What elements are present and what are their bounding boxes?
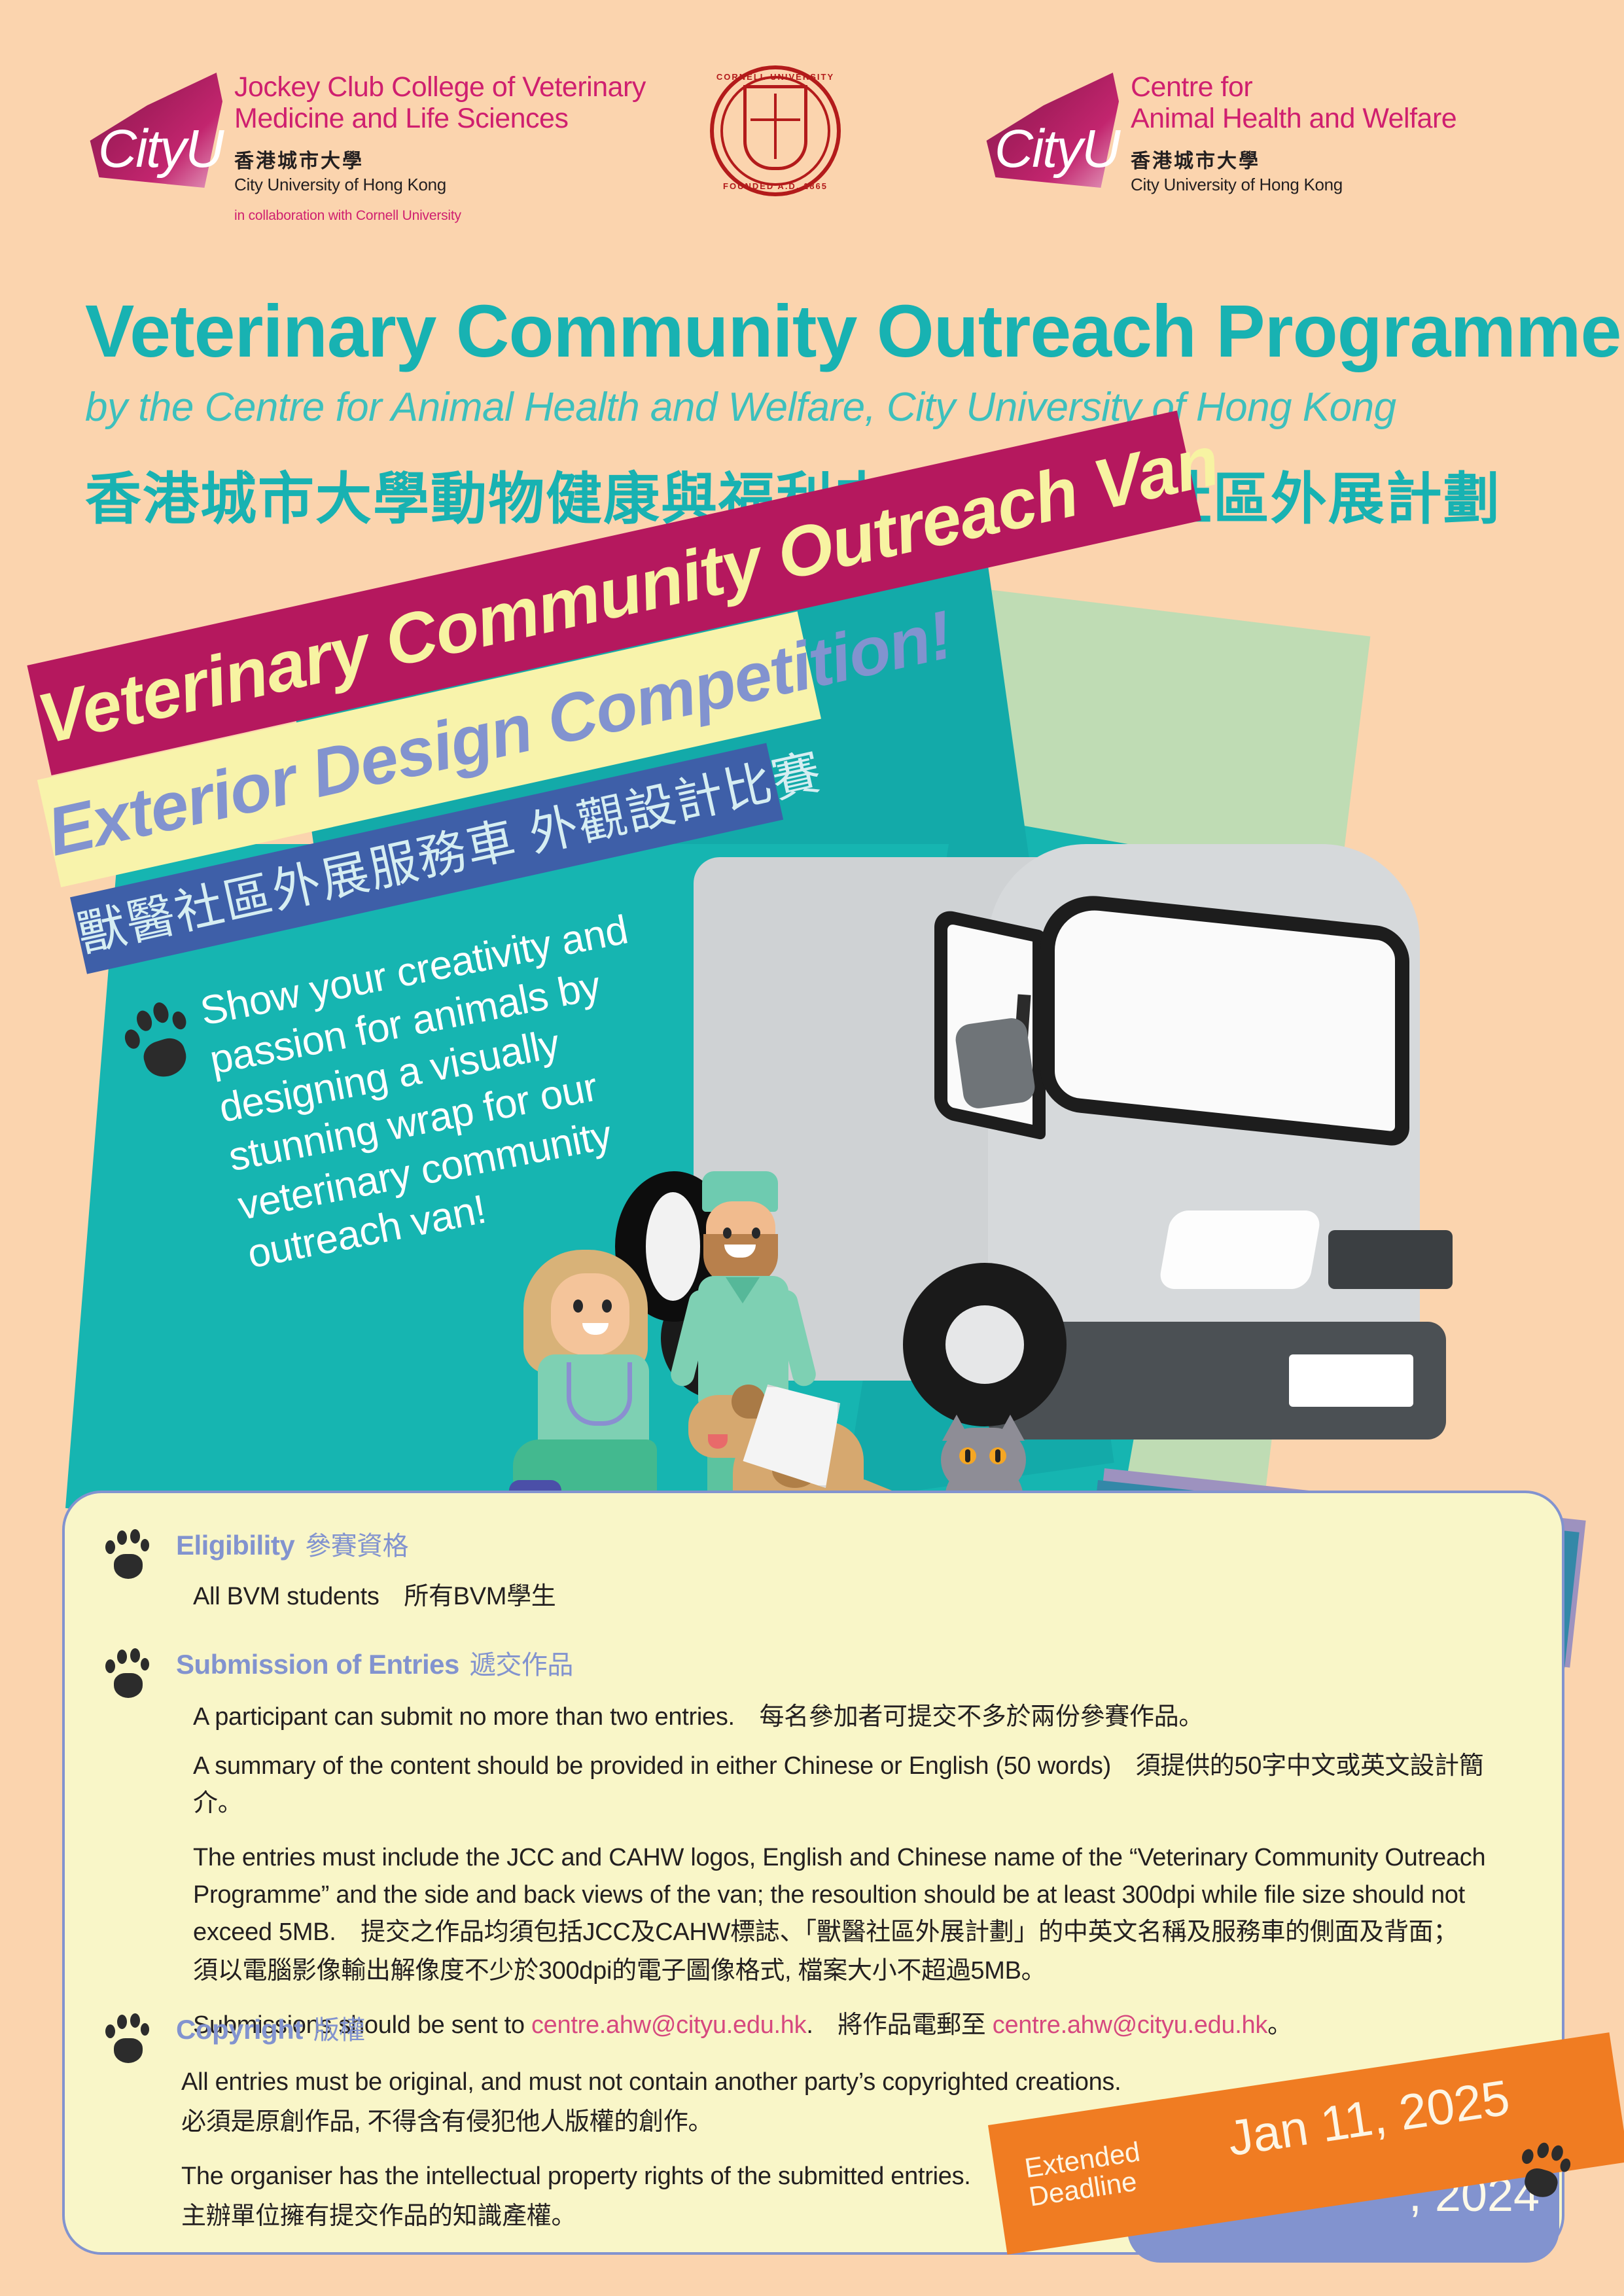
cornell-seal-icon: CORNELL UNIVERSITY FOUNDED A.D. 1865 xyxy=(710,65,841,196)
paw-toe xyxy=(134,1008,154,1033)
paw-toe xyxy=(117,1530,127,1545)
cityu-wordmark: CityU xyxy=(98,122,222,176)
paw-toe xyxy=(105,2024,115,2038)
paw-toe xyxy=(1559,2157,1572,2173)
paw-toe xyxy=(105,1540,115,1554)
van-side-mirror-icon xyxy=(953,1016,1036,1110)
section-heading-copyright: Copyright版權 xyxy=(176,2009,1517,2047)
cahw-name-line2: Animal Health and Welfare xyxy=(1131,103,1456,134)
stethoscope-icon xyxy=(567,1362,632,1426)
collaboration-note: in collaboration with Cornell University xyxy=(234,208,646,224)
eligibility-line: All BVM students 所有BVM學生 xyxy=(193,1578,556,1616)
paw-toe xyxy=(151,1000,171,1025)
eye-left xyxy=(573,1299,583,1313)
paw-toe xyxy=(122,1027,142,1050)
jcc-name-line2: Medicine and Life Sciences xyxy=(234,103,646,134)
section-submission: Submission of Entries遞交作品 A participant … xyxy=(104,1644,1517,2044)
cityu-wordmark: CityU xyxy=(995,122,1119,176)
jcc-name-line1: Jockey Club College of Veterinary xyxy=(234,71,646,103)
cityu-name-en: City University of Hong Kong xyxy=(234,175,646,195)
cityu-logo-left: CityU xyxy=(72,62,222,193)
extended-deadline-date: Jan 11, 2025 xyxy=(1224,2069,1513,2167)
paw-toe xyxy=(130,1648,140,1663)
paw-pad-main xyxy=(114,2038,143,2063)
van-front-wheel xyxy=(903,1263,1067,1426)
paw-toe xyxy=(117,1650,127,1664)
paw-toe xyxy=(130,2013,140,2028)
jcc-logo-block: CityU Jockey Club College of Veterinary … xyxy=(72,62,646,224)
wheel-hub xyxy=(945,1305,1024,1384)
section-heading-submission: Submission of Entries遞交作品 xyxy=(176,1644,1517,1682)
paw-print-icon xyxy=(104,1646,151,1699)
paw-toe xyxy=(130,1529,140,1544)
heading-zh: 版權 xyxy=(313,2016,365,2045)
cat-head xyxy=(941,1428,1026,1492)
poster-header: CityU Jockey Club College of Veterinary … xyxy=(0,0,1624,255)
paw-toe xyxy=(1520,2147,1535,2165)
heading-zh: 參賽資格 xyxy=(305,1532,408,1561)
submission-line-3: The entries must include the JCC and CAH… xyxy=(193,1839,1508,1951)
jcc-logo-text: Jockey Club College of Veterinary Medici… xyxy=(234,62,646,224)
paw-toe xyxy=(141,2023,149,2036)
cityu-name-en: City University of Hong Kong xyxy=(1131,175,1456,195)
paw-print-icon xyxy=(104,1527,151,1580)
cityu-logo-right: CityU xyxy=(968,62,1119,193)
section-eligibility: Eligibility參賽資格 All BVM students 所有BVM學生 xyxy=(104,1525,556,1616)
eye-left xyxy=(723,1227,732,1239)
paw-toe xyxy=(1536,2142,1551,2160)
submission-line-2: A summary of the content should be provi… xyxy=(193,1748,1517,1822)
paw-toe xyxy=(105,1659,115,1673)
cahw-logo-block: CityU Centre for Animal Health and Welfa… xyxy=(968,62,1456,195)
paw-print-icon xyxy=(104,2011,151,2064)
paw-toe xyxy=(170,1010,188,1031)
van-headlight xyxy=(1157,1210,1322,1289)
extended-deadline-label: Extended Deadline xyxy=(1023,2137,1146,2211)
heading-en: Submission of Entries xyxy=(176,1649,459,1680)
heading-en: Copyright xyxy=(176,2014,303,2045)
cornell-shield xyxy=(743,85,807,170)
cahw-name-line1: Centre for xyxy=(1131,71,1456,103)
paw-pad-main xyxy=(114,1673,143,1698)
heading-zh: 遞交作品 xyxy=(470,1651,573,1680)
van-illustration xyxy=(622,805,1564,1511)
cahw-logo-text: Centre for Animal Health and Welfare 香港城… xyxy=(1131,62,1456,195)
eye-right xyxy=(752,1227,760,1239)
paw-toe xyxy=(141,1539,149,1551)
heading-en: Eligibility xyxy=(176,1530,294,1561)
submission-line-4: 須以電腦影像輸出解像度不少於300dpi的電子圖像格式, 檔案大小不超過5MB。 xyxy=(193,1952,1517,1990)
cat-eye-right xyxy=(989,1447,1006,1464)
eye-right xyxy=(602,1299,612,1313)
cornell-bottom-text: FOUNDED A.D. 1865 xyxy=(710,181,841,191)
title-subtitle: by the Centre for Animal Health and Welf… xyxy=(85,384,1551,431)
cityu-name-zh: 香港城市大學 xyxy=(1131,145,1456,173)
submission-line-1: A participant can submit no more than tw… xyxy=(193,1699,1517,1736)
paw-pad-main xyxy=(114,1554,143,1579)
cat-eye-left xyxy=(959,1447,976,1464)
paw-toe xyxy=(117,2015,127,2029)
cornell-top-text: CORNELL UNIVERSITY xyxy=(710,72,841,82)
face xyxy=(551,1273,629,1355)
page-title: Veterinary Community Outreach Programme xyxy=(85,294,1551,368)
van-windshield xyxy=(1040,890,1409,1147)
section-heading-eligibility: Eligibility參賽資格 xyxy=(176,1525,556,1563)
cityu-name-zh: 香港城市大學 xyxy=(234,145,646,173)
van-grille xyxy=(1328,1230,1453,1289)
paw-toe xyxy=(141,1658,149,1670)
poster-canvas: CityU Jockey Club College of Veterinary … xyxy=(0,0,1624,2296)
van-license-plate xyxy=(1289,1354,1413,1407)
